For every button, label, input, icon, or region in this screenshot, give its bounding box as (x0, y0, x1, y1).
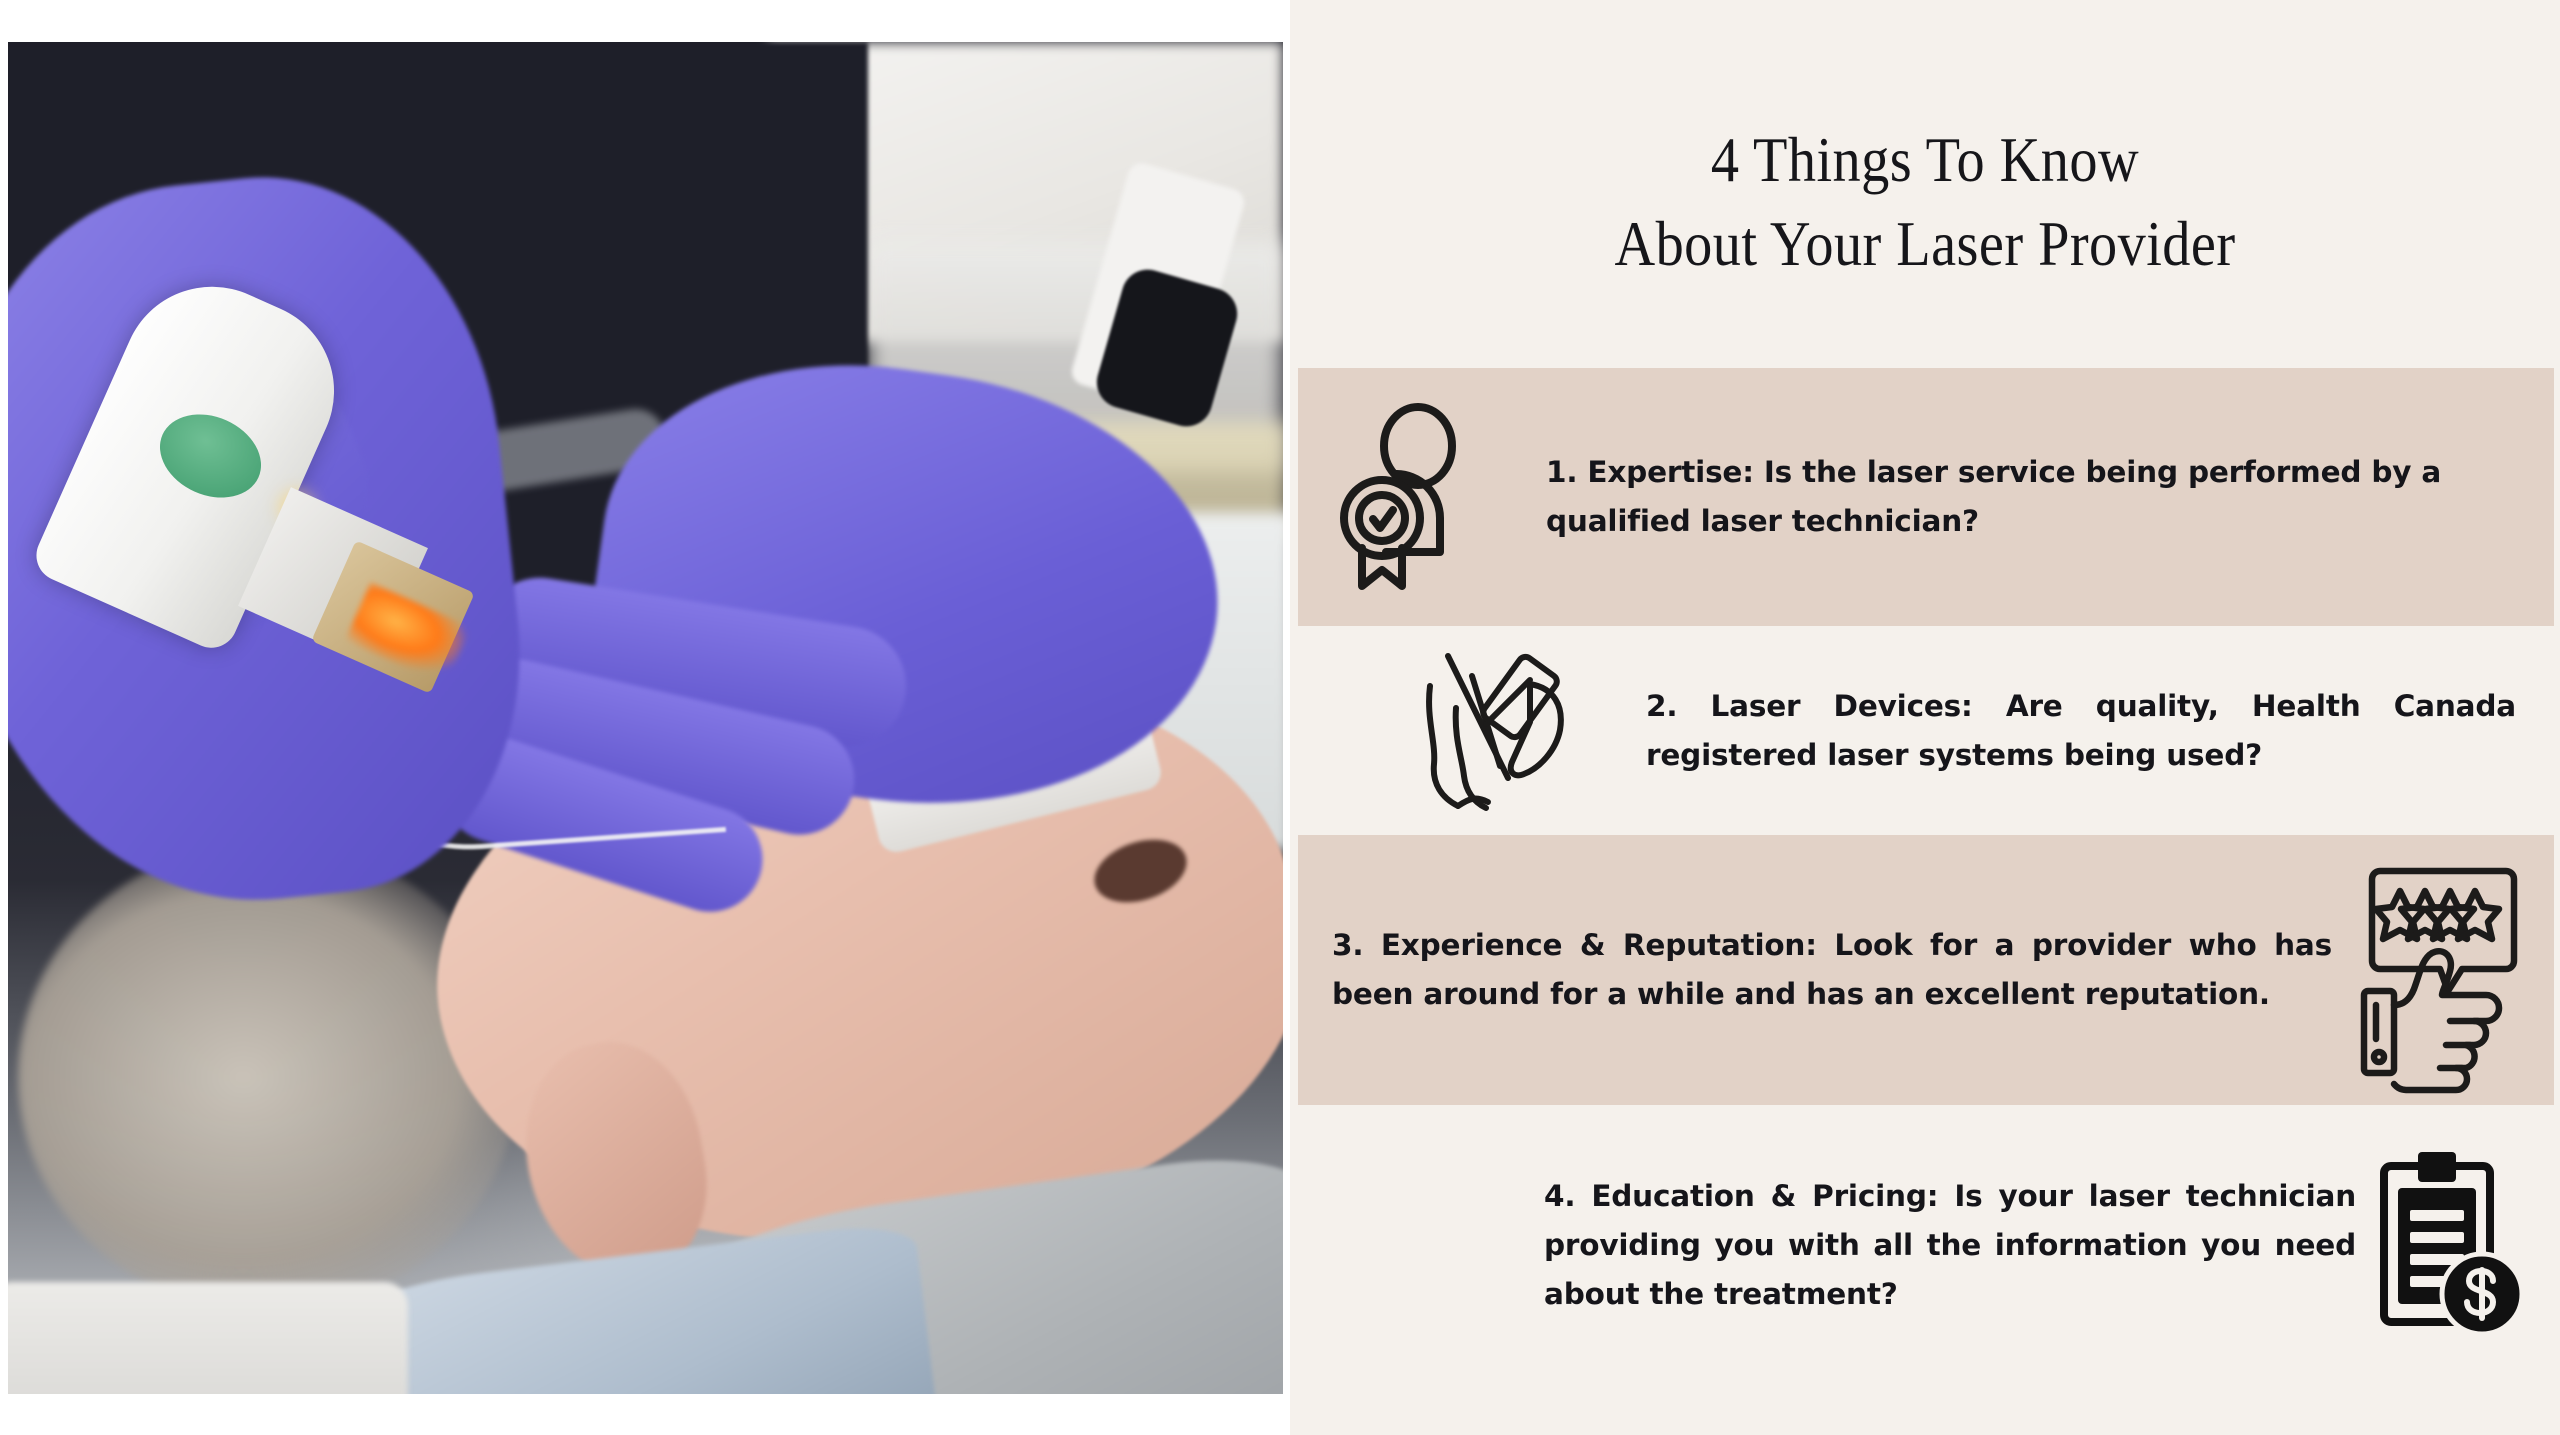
page-title: 4 Things To Know About Your Laser Provid… (1290, 118, 2560, 286)
pillow (8, 1282, 408, 1394)
list-item: 4. Education & Pricing: Is your laser te… (1290, 1105, 2560, 1385)
laser-treatment-photo (8, 42, 1283, 1394)
certified-person-badge-icon (1342, 402, 1492, 592)
list-item-text: 2. Laser Devices: Are quality, Health Ca… (1602, 682, 2516, 780)
list-item-text: 1. Expertise: Is the laser service being… (1492, 448, 2520, 546)
thumbs-up-five-star-rating-icon (2358, 863, 2518, 1078)
title-line-2: About Your Laser Provider (1366, 202, 2484, 286)
title-line-1: 4 Things To Know (1366, 118, 2484, 202)
list-item-text: 4. Education & Pricing: Is your laser te… (1334, 1172, 2374, 1319)
list-item: 2. Laser Devices: Are quality, Health Ca… (1290, 626, 2560, 835)
list-item: 1. Expertise: Is the laser service being… (1298, 368, 2554, 626)
photo-scene (8, 42, 1283, 1394)
list-item: 3. Experience & Reputation: Look for a p… (1298, 835, 2554, 1105)
content-panel: 4 Things To Know About Your Laser Provid… (1290, 0, 2560, 1435)
list-item-text: 3. Experience & Reputation: Look for a p… (1320, 921, 2358, 1019)
infographic-canvas: 4 Things To Know About Your Laser Provid… (0, 0, 2560, 1435)
laser-device-on-legs-icon (1412, 646, 1602, 816)
patient-hair (18, 842, 518, 1312)
clipboard-dollar-icon (2374, 1148, 2524, 1343)
